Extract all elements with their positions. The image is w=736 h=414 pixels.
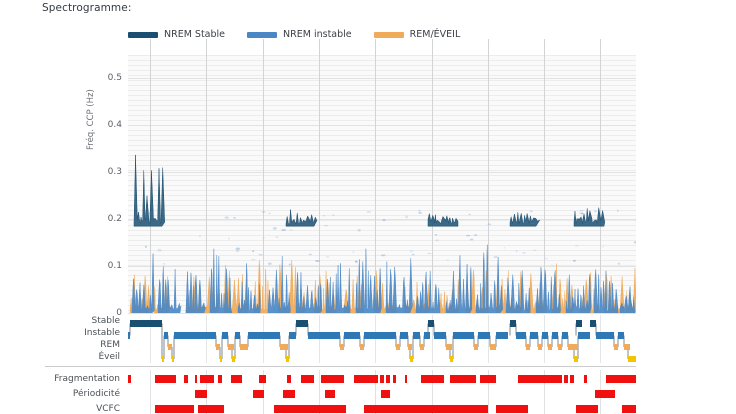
hypnogram-label-rem: REM: [100, 340, 120, 350]
page-title: Spectrogramme:: [42, 2, 131, 14]
events-labels: Fragmentation Périodicité VCFC: [0, 370, 124, 414]
hypnogram-label-instable: Instable: [84, 328, 120, 338]
section-divider-top: [45, 366, 636, 367]
spectrogram-traces: [128, 55, 636, 313]
hypnogram-plot: [128, 315, 636, 363]
hypnogram-label-eveil: Éveil: [98, 352, 120, 362]
hypnogram-traces: [128, 315, 636, 363]
hypnogram-label-stable: Stable: [91, 316, 120, 326]
events-traces: [128, 370, 636, 414]
legend-swatch-rem-eveil: [374, 32, 404, 38]
spectrogram-page: Spectrogramme: NREM Stable NREM instable…: [0, 0, 736, 414]
y-tick-0-3: 0.3: [92, 167, 122, 177]
legend-label-nrem-instable: NREM instable: [283, 29, 352, 40]
legend-item-rem-eveil: REM/ÉVEIL: [374, 29, 461, 40]
y-axis-ticks: 0 0.1 0.2 0.3 0.4 0.5: [92, 55, 122, 313]
legend-label-rem-eveil: REM/ÉVEIL: [410, 29, 461, 40]
y-tick-0-2: 0.2: [92, 214, 122, 224]
legend-swatch-nrem-instable: [247, 32, 277, 38]
hypnogram-labels: Stable Instable REM Éveil: [0, 315, 124, 363]
legend-item-nrem-stable: NREM Stable: [128, 29, 225, 40]
legend-label-nrem-stable: NREM Stable: [164, 29, 225, 40]
y-tick-0-5: 0.5: [92, 73, 122, 83]
y-tick-0-1: 0.1: [92, 261, 122, 271]
events-plot: [128, 370, 636, 414]
events-label-vcfc: VCFC: [96, 404, 120, 414]
chart-legend: NREM Stable NREM instable REM/ÉVEIL: [128, 29, 460, 40]
events-label-periodicite: Périodicité: [73, 389, 120, 399]
events-label-fragmentation: Fragmentation: [54, 374, 120, 384]
legend-swatch-nrem-stable: [128, 32, 158, 38]
y-tick-0-4: 0.4: [92, 120, 122, 130]
spectrogram-plot: [128, 55, 636, 313]
